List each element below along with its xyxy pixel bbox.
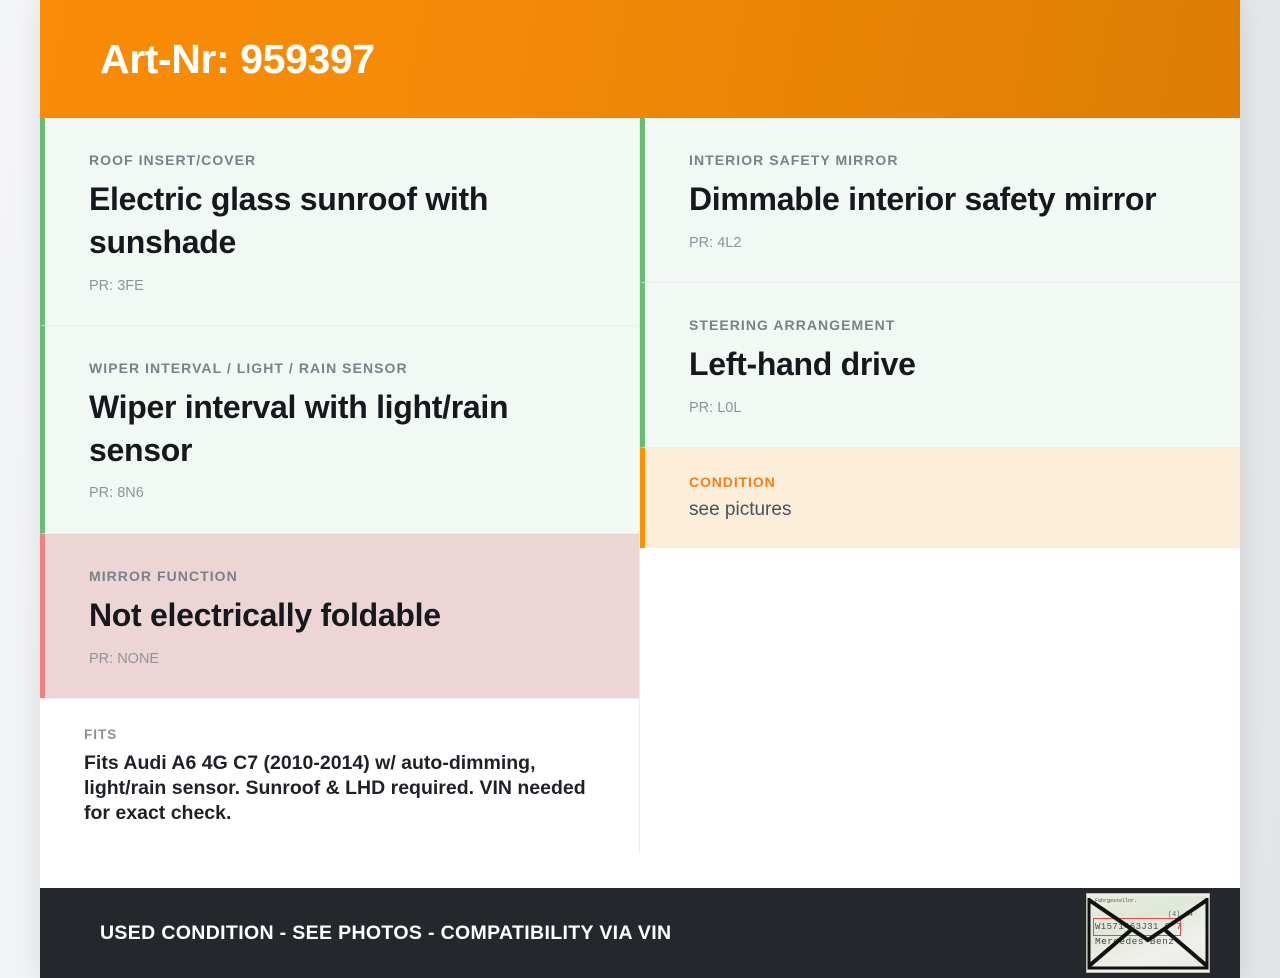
spec-value: Dimmable interior safety mirror xyxy=(689,178,1196,221)
spec-label: INTERIOR SAFETY MIRROR xyxy=(689,152,1196,169)
spec-column-right: INTERIOR SAFETY MIRROR Dimmable interior… xyxy=(640,118,1240,854)
condition-value: see pictures xyxy=(689,497,1196,522)
fits-label: FITS xyxy=(84,727,595,743)
spec-card-steering-arrangement: STEERING ARRANGEMENT Left-hand drive PR:… xyxy=(640,282,1240,447)
broken-image-envelope-icon xyxy=(1087,894,1209,972)
spec-label: MIRROR FUNCTION xyxy=(89,568,595,585)
spec-value: Left-hand drive xyxy=(689,343,1196,386)
footer-text: USED CONDITION - SEE PHOTOS - COMPATIBIL… xyxy=(100,922,671,945)
spec-label: STEERING ARRANGEMENT xyxy=(689,317,1196,334)
spec-value: Wiper interval with light/rain sensor xyxy=(89,386,595,472)
spec-pr-code: PR: 4L2 xyxy=(689,235,1196,252)
spec-card-mirror-function: MIRROR FUNCTION Not electrically foldabl… xyxy=(40,533,639,698)
fits-text: Fits Audi A6 4G C7 (2010-2014) w/ auto-d… xyxy=(84,751,595,826)
footer-bar: USED CONDITION - SEE PHOTOS - COMPATIBIL… xyxy=(40,888,1240,978)
right-column-spacer xyxy=(640,548,1240,854)
spec-pr-code: PR: NONE xyxy=(89,651,595,668)
spec-column-left: ROOF INSERT/COVER Electric glass sunroof… xyxy=(40,118,640,854)
spec-pr-code: PR: 8N6 xyxy=(89,485,595,502)
spec-pr-code: PR: 3FE xyxy=(89,278,595,295)
condition-label: CONDITION xyxy=(689,474,1196,491)
fits-section: FITS Fits Audi A6 4G C7 (2010-2014) w/ a… xyxy=(40,698,639,854)
spec-card-condition: CONDITION see pictures xyxy=(640,447,1240,548)
spec-pr-code: PR: L0L xyxy=(689,400,1196,417)
spec-label: ROOF INSERT/COVER xyxy=(89,152,595,169)
spec-card-interior-safety-mirror: INTERIOR SAFETY MIRROR Dimmable interior… xyxy=(640,118,1240,282)
page-title: Art-Nr: 959397 xyxy=(100,39,375,80)
header-bar: Art-Nr: 959397 xyxy=(40,0,1240,118)
spec-card-roof-insert-cover: ROOF INSERT/COVER Electric glass sunroof… xyxy=(40,118,639,325)
vin-document-thumbnail[interactable]: Fahrgestellnr. (4) A4 W1571463J31 9 7 Me… xyxy=(1086,893,1210,973)
spec-label: WIPER INTERVAL / LIGHT / RAIN SENSOR xyxy=(89,360,595,377)
spec-value: Electric glass sunroof with sunshade xyxy=(89,178,595,264)
listing-sheet: Art-Nr: 959397 ROOF INSERT/COVER Electri… xyxy=(40,0,1240,978)
spec-grid: ROOF INSERT/COVER Electric glass sunroof… xyxy=(40,118,1240,888)
spec-card-wiper-interval: WIPER INTERVAL / LIGHT / RAIN SENSOR Wip… xyxy=(40,325,639,533)
spec-value: Not electrically foldable xyxy=(89,594,595,637)
